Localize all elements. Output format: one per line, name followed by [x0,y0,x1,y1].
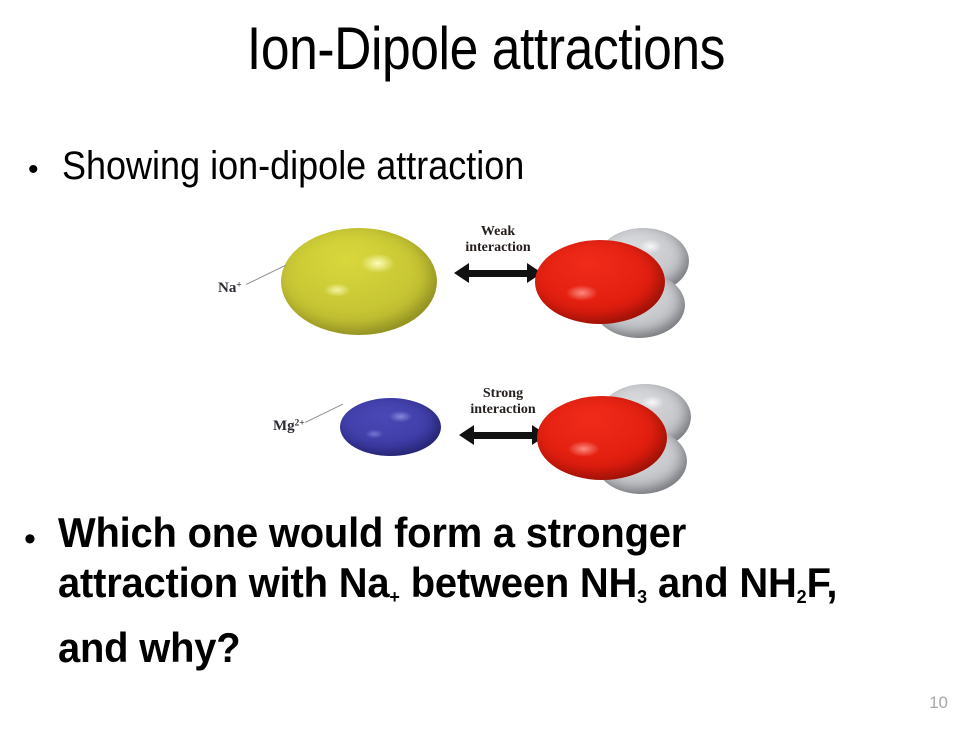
arrow-shaft [467,270,529,277]
question-line-2: attraction with Na+ between NH3 and NH2F… [58,559,837,606]
bullet-item-question: • Which one would form a stronger attrac… [24,508,964,673]
magnesium-ion-sphere [340,398,441,456]
bullet-marker-icon: • [28,143,62,185]
bullet-text-question: Which one would form a stronger attracti… [58,508,919,673]
sodium-leader-line [246,265,286,285]
page-title: Ion-Dipole attractions [68,14,904,84]
figure-weak-interaction: Na+ Weak interaction [200,218,720,353]
water-molecule-weak [535,222,695,342]
double-headed-arrow-icon [459,424,547,446]
question-line-2-part2: between NH [400,559,637,606]
sodium-ion-charge: + [236,280,241,290]
arrow-shaft [472,432,534,439]
page-number: 10 [929,693,948,713]
bullet-item-showing: • Showing ion-dipole attraction [28,143,908,189]
magnesium-ion-charge: 2+ [295,418,305,428]
bullet-marker-icon: • [24,508,58,556]
slide: Ion-Dipole attractions • Showing ion-dip… [0,0,972,729]
oxygen-atom [535,240,665,324]
nh2f-subscript: 2 [797,587,807,608]
question-line-2-part1: attraction with Na [58,559,389,606]
double-headed-arrow-icon [454,262,542,284]
water-molecule-strong [537,378,697,498]
question-line-1: Which one would form a stronger [58,509,686,556]
question-line-2-part3: and NH [647,559,796,606]
sodium-ion-symbol: Na [218,280,236,296]
oxygen-atom [537,396,667,480]
figure-strong-interaction: Mg2+ Strong interaction [265,378,720,498]
sodium-ion-sphere [281,228,437,335]
magnesium-ion-label: Mg2+ [273,418,305,435]
question-line-2-part4: F, [807,559,838,606]
sodium-ion-label: Na+ [218,280,242,297]
question-line-3: and why? [58,624,240,671]
bullet-text-showing: Showing ion-dipole attraction [62,143,823,189]
magnesium-ion-symbol: Mg [273,418,295,434]
sodium-charge-subscript: + [389,587,399,608]
ammonia-subscript: 3 [637,587,647,608]
magnesium-leader-line [305,404,343,423]
